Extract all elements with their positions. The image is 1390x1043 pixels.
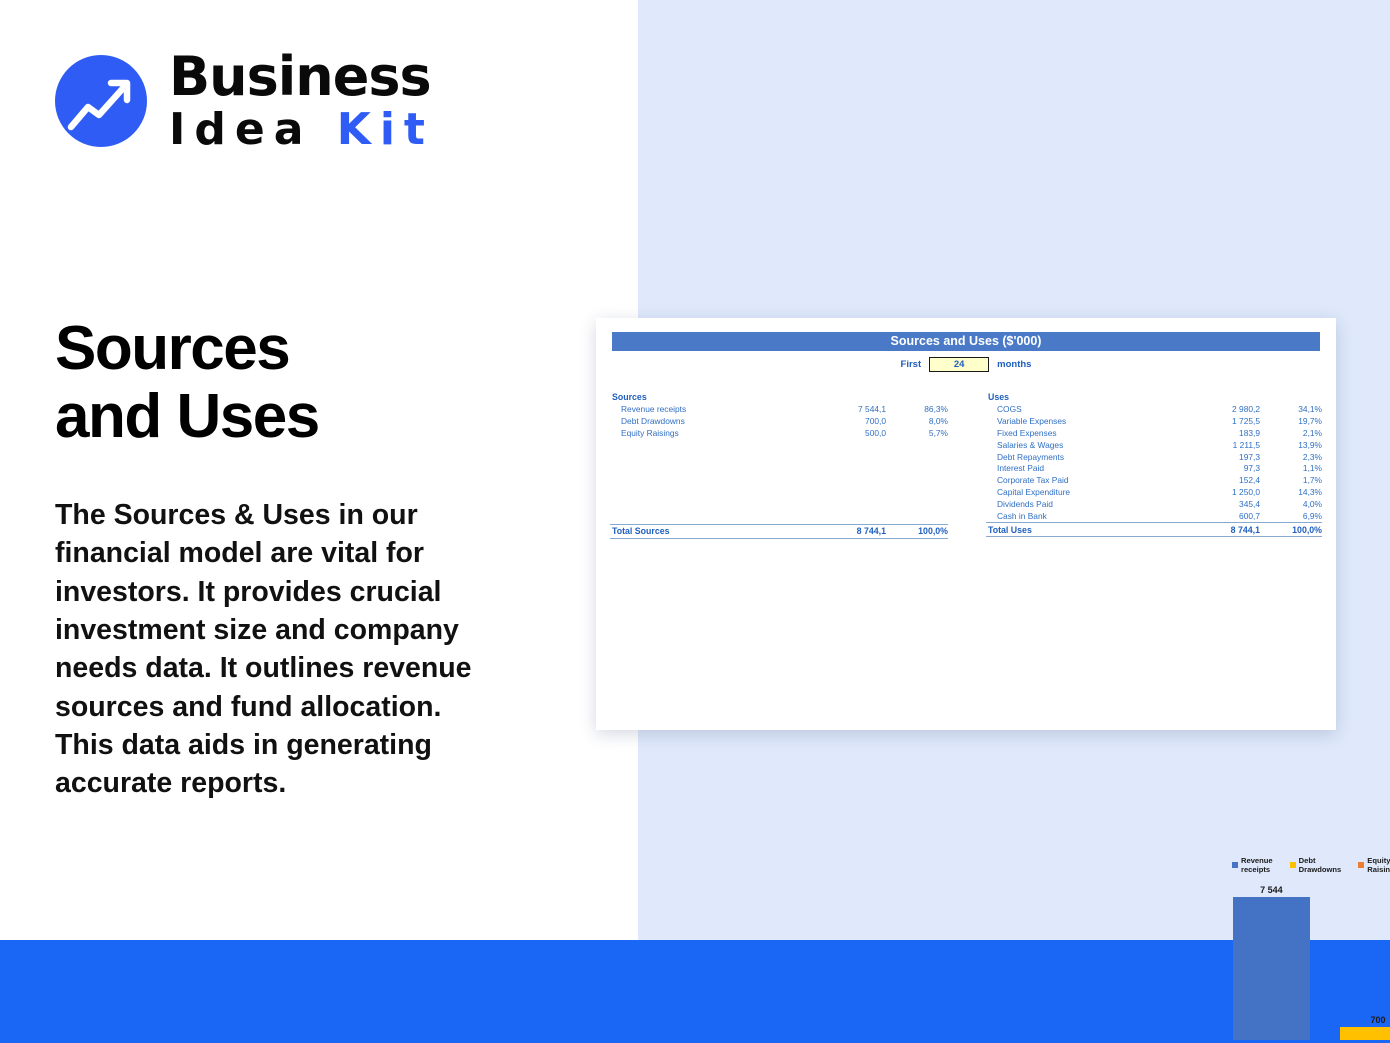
uses-row-pct: 14,3%: [1260, 487, 1322, 497]
uses-row-value: 600,7: [1186, 511, 1260, 521]
sources-row-label: Debt Drawdowns: [610, 416, 812, 426]
months-input[interactable]: 24: [929, 357, 989, 372]
sources-total-label: Total Sources: [610, 526, 812, 536]
sources-row-pct: 5,7%: [886, 428, 948, 438]
uses-row-label: Dividends Paid: [986, 499, 1186, 509]
uses-row-value: 152,4: [1186, 475, 1260, 485]
uses-row-pct: 6,9%: [1260, 511, 1322, 521]
uses-row-value: 1 725,5: [1186, 416, 1260, 426]
sources-and-uses-panel: Sources and Uses ($'000) First 24 months…: [596, 318, 1336, 730]
sources-row-value: 7 544,1: [812, 404, 886, 414]
uses-row-label: Fixed Expenses: [986, 428, 1186, 438]
panel-title: Sources and Uses ($'000): [612, 332, 1320, 351]
table-row: Fixed Expenses183,92,1%: [986, 427, 1322, 439]
growth-arrow-icon: [55, 55, 147, 147]
table-row: COGS2 980,234,1%: [986, 404, 1322, 416]
period-selector-row: First 24 months: [596, 356, 1336, 372]
uses-row-label: Cash in Bank: [986, 511, 1186, 521]
uses-row-value: 2 980,2: [1186, 404, 1260, 414]
uses-row-label: Debt Repayments: [986, 452, 1186, 462]
table-row: Debt Drawdowns700,08,0%: [610, 415, 948, 427]
legend-item: Equity Raisings: [1358, 856, 1390, 874]
sources-table: Sources Revenue receipts7 544,186,3%Debt…: [610, 392, 948, 539]
period-prefix-label: First: [901, 359, 922, 370]
uses-total-pct: 100,0%: [1260, 525, 1322, 535]
uses-row-value: 183,9: [1186, 428, 1260, 438]
table-row: Cash in Bank600,76,9%: [986, 510, 1322, 522]
uses-row-label: COGS: [986, 404, 1186, 414]
legend-item: Revenue receipts: [1232, 856, 1273, 874]
uses-table: Uses COGS2 980,234,1%Variable Expenses1 …: [986, 392, 1322, 537]
legend-label: Revenue receipts: [1241, 856, 1273, 874]
table-row: Revenue receipts7 544,186,3%: [610, 404, 948, 416]
legend-swatch-icon: [1232, 862, 1238, 868]
brand-name-primary: Business: [169, 50, 434, 104]
page-title: Sources and Uses: [55, 315, 575, 451]
uses-total-value: 8 744,1: [1186, 525, 1260, 535]
sources-row-pct: 8,0%: [886, 416, 948, 426]
bar-group: 700: [1325, 874, 1390, 1040]
uses-row-pct: 1,1%: [1260, 463, 1322, 473]
bar-value-label: 700: [1370, 1015, 1385, 1025]
brand-name-secondary: Idea Kit: [169, 108, 434, 152]
sources-row-pct: 86,3%: [886, 404, 948, 414]
uses-row-pct: 19,7%: [1260, 416, 1322, 426]
sources-row-label: Equity Raisings: [610, 428, 812, 438]
period-suffix-label: months: [997, 359, 1031, 370]
uses-total-label: Total Uses: [986, 525, 1186, 535]
table-row: Corporate Tax Paid152,41,7%: [986, 474, 1322, 486]
sources-row-value: 500,0: [812, 428, 886, 438]
sources-total-pct: 100,0%: [886, 526, 948, 536]
legend-label: Equity Raisings: [1367, 856, 1390, 874]
uses-row-value: 1 211,5: [1186, 440, 1260, 450]
brand-logo: Business Idea Kit: [55, 50, 434, 152]
uses-row-label: Capital Expenditure: [986, 487, 1186, 497]
uses-row-pct: 2,1%: [1260, 428, 1322, 438]
table-row: Debt Repayments197,32,3%: [986, 451, 1322, 463]
uses-row-pct: 1,7%: [1260, 475, 1322, 485]
sources-total-row: Total Sources 8 744,1 100,0%: [610, 524, 948, 539]
sources-row-value: 700,0: [812, 416, 886, 426]
uses-header: Uses: [986, 392, 1322, 402]
legend-swatch-icon: [1358, 862, 1364, 868]
uses-total-row: Total Uses 8 744,1 100,0%: [986, 522, 1322, 537]
legend-item: Debt Drawdowns: [1290, 856, 1342, 874]
sources-header: Sources: [610, 392, 948, 402]
legend-label: Debt Drawdowns: [1299, 856, 1342, 874]
sources-row-label: Revenue receipts: [610, 404, 812, 414]
uses-row-value: 97,3: [1186, 463, 1260, 473]
page-description: The Sources & Uses in our financial mode…: [55, 496, 500, 803]
uses-row-pct: 13,9%: [1260, 440, 1322, 450]
legend-swatch-icon: [1290, 862, 1296, 868]
table-row: Variable Expenses1 725,519,7%: [986, 415, 1322, 427]
bar-value-label: 7 544: [1260, 885, 1283, 895]
bar: [1340, 1027, 1390, 1040]
bar: [1233, 897, 1310, 1040]
uses-row-pct: 4,0%: [1260, 499, 1322, 509]
uses-row-pct: 2,3%: [1260, 452, 1322, 462]
uses-row-value: 197,3: [1186, 452, 1260, 462]
sources-bar-chart: 7 544700500: [1218, 874, 1390, 1040]
footer-bar: [0, 940, 1390, 1043]
brand-idea-text: Idea: [169, 104, 337, 155]
sources-chart-legend: Revenue receiptsDebt DrawdownsEquity Rai…: [1232, 856, 1390, 874]
uses-row-value: 1 250,0: [1186, 487, 1260, 497]
table-row: Dividends Paid345,44,0%: [986, 498, 1322, 510]
brand-kit-text: Kit: [337, 104, 434, 155]
table-row: Capital Expenditure1 250,014,3%: [986, 486, 1322, 498]
table-row: Equity Raisings500,05,7%: [610, 427, 948, 439]
uses-row-label: Interest Paid: [986, 463, 1186, 473]
uses-row-label: Salaries & Wages: [986, 440, 1186, 450]
uses-row-value: 345,4: [1186, 499, 1260, 509]
uses-row-label: Variable Expenses: [986, 416, 1186, 426]
table-row: Salaries & Wages1 211,513,9%: [986, 439, 1322, 451]
sources-total-value: 8 744,1: [812, 526, 886, 536]
uses-row-label: Corporate Tax Paid: [986, 475, 1186, 485]
bar-group: 7 544: [1218, 874, 1325, 1040]
table-row: Interest Paid97,31,1%: [986, 462, 1322, 474]
uses-row-pct: 34,1%: [1260, 404, 1322, 414]
